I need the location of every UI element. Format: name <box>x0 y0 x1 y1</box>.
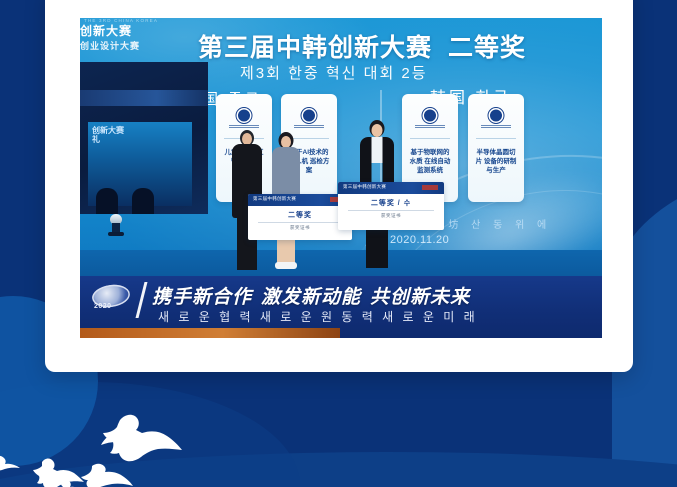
award-ceremony-photo: 第三届中韩创新大赛二等奖 제3회 한중 혁신 대회 2등 中国 중국 韩国 한국… <box>80 18 602 338</box>
slogan-cn-part-3: 共创新未来 <box>370 287 470 308</box>
backdrop-headline-title: 第三届中韩创新大赛 <box>198 34 432 62</box>
certificate-title: 半导体晶圆切片 设备的研制与生产 <box>474 148 518 175</box>
divider <box>410 138 450 139</box>
divider <box>258 222 342 223</box>
award-board: 第三届中韩创新大赛 二等奖 获奖证书 <box>248 194 352 240</box>
divider <box>348 210 434 211</box>
award-board-header: 第三届中韩创新大赛 <box>338 182 444 194</box>
led-screen-strip <box>80 90 208 106</box>
seal-caption <box>481 125 511 129</box>
dove-decoration <box>0 390 260 487</box>
slogan-cn-part-1: 携手新合作 <box>152 287 252 308</box>
photo-card: 第三届中韩创新大赛二等奖 제3회 한중 혁신 대회 2등 中国 중국 韩国 한국… <box>45 0 633 372</box>
award-board-subtext: 获奖证书 <box>338 213 444 219</box>
backdrop-date-text: 2020.11.20 <box>390 234 449 246</box>
audience-silhouette <box>132 188 154 214</box>
award-board: 第三届中韩创新大赛 二等奖 / 수 获奖证书 <box>338 182 444 230</box>
led-top-subtitle: 创业设计大赛 <box>80 39 200 52</box>
award-board-prize: 二等奖 <box>248 210 352 220</box>
audience-silhouette <box>96 188 118 214</box>
stage-light-fixture <box>110 214 122 238</box>
certificate-title: 基于物联网的水质 在线自动监测系统 <box>408 148 452 175</box>
led-top-title: 创新大赛 <box>80 24 132 38</box>
award-board-header-text: 第三届中韩创新大赛 <box>343 184 386 190</box>
led-inner-line-1: 创新大赛 <box>92 126 124 135</box>
seal-icon <box>489 108 504 123</box>
seal-caption <box>415 125 445 129</box>
stage-bottom-banner: 2020 携手新合作激发新动能共创新未来 새 로 운 협 력 새 로 운 원 동… <box>80 276 602 338</box>
award-board-prize: 二等奖 / 수 <box>338 198 444 208</box>
award-board-header-accent <box>422 185 438 190</box>
competition-emblem-icon: 2020 <box>90 284 134 314</box>
backdrop-headline: 第三届中韩创新大赛二等奖 <box>198 28 526 64</box>
seal-icon <box>423 108 438 123</box>
banner-slogan-chinese: 携手新合作激发新动能共创新未来 <box>152 282 470 309</box>
seal-icon <box>302 108 317 123</box>
emblem-year: 2020 <box>94 303 112 310</box>
divider <box>476 138 516 139</box>
banner-orange-strip <box>80 328 340 338</box>
seal-icon <box>237 108 252 123</box>
banner-slash-divider <box>136 282 148 318</box>
led-inner-line-3: 礼 <box>92 135 100 144</box>
page-root: 第三届中韩创新大赛二等奖 제3회 한중 혁신 대회 2등 中国 중국 韩国 한국… <box>0 0 677 487</box>
led-screen-inner-logo: 创新大赛 礼 <box>92 126 124 144</box>
banner-slogan-korean: 새 로 운 협 력 새 로 운 원 동 력 새 로 운 미 래 <box>158 308 478 325</box>
seal-caption <box>294 125 324 129</box>
led-screen-top-logo: 创新大赛 创业设计大赛 <box>80 22 200 52</box>
award-board-header: 第三届中韩创新大赛 <box>248 194 352 206</box>
seal-caption <box>229 125 259 129</box>
stage-led-screen: 创新大赛 礼 <box>80 62 208 214</box>
award-board-subtext: 获奖证书 <box>248 225 352 231</box>
certificate-panel: 半导体晶圆切片 设备的研制与生产 <box>468 94 524 202</box>
backdrop-headline-prize: 二等奖 <box>448 34 526 62</box>
award-board-header-text: 第三届中韩创新大赛 <box>253 196 296 202</box>
slogan-cn-part-2: 激发新动能 <box>261 287 361 308</box>
backdrop-headline-korean: 제3회 한중 혁신 대회 2등 <box>240 62 428 83</box>
